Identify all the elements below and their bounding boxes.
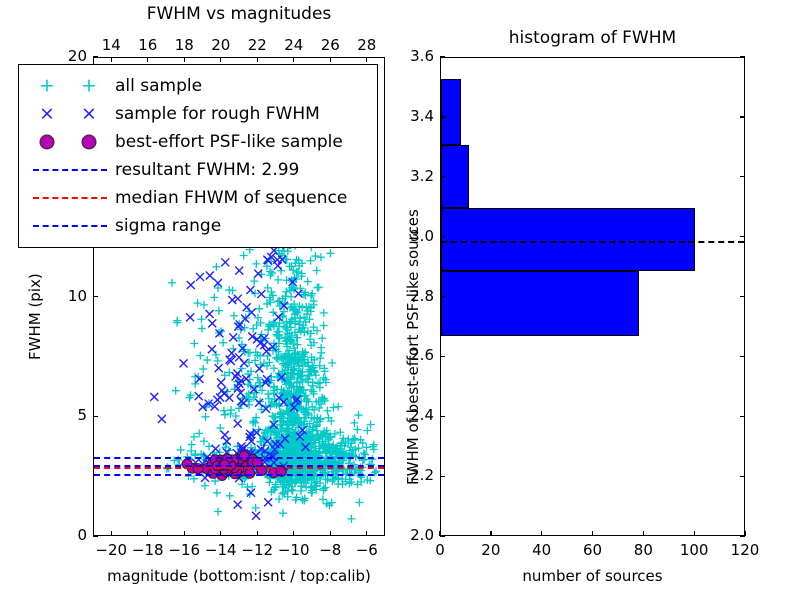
scatter-top-xticklabel: 14 bbox=[92, 36, 130, 54]
legend-cross-marker: × bbox=[81, 105, 97, 124]
scatter-yticklabel: 5 bbox=[47, 406, 87, 424]
legend-entry: sigma range bbox=[27, 212, 367, 240]
histogram-ytick bbox=[440, 296, 445, 297]
histogram-median-line bbox=[441, 241, 744, 243]
histogram-yticklabel: 3.6 bbox=[388, 47, 434, 65]
histogram-ytick-right bbox=[740, 56, 745, 57]
histogram-ytick-right bbox=[740, 535, 745, 536]
histogram-bar bbox=[441, 145, 469, 208]
histogram-xtick bbox=[490, 531, 491, 536]
scatter-xticklabel: −8 bbox=[311, 541, 349, 559]
scatter-xtick bbox=[366, 531, 367, 536]
scatter-top-xtick bbox=[366, 57, 367, 62]
histogram-yticklabel: 2.4 bbox=[388, 406, 434, 424]
scatter-top-xtick bbox=[293, 57, 294, 62]
scatter-top-xticklabel: 24 bbox=[275, 36, 313, 54]
histogram-xtick bbox=[592, 531, 593, 536]
figure-canvas: FWHM vs magnitudes magnitude (bottom:isn… bbox=[0, 0, 800, 600]
scatter-xtick bbox=[330, 531, 331, 536]
scatter-xticklabel: −16 bbox=[165, 541, 203, 559]
legend-filled-circle-marker bbox=[40, 135, 55, 150]
histogram-ytick bbox=[440, 416, 445, 417]
histogram-axes bbox=[440, 57, 745, 536]
legend-entry: median FHWM of sequence bbox=[27, 184, 367, 212]
histogram-plot-area bbox=[441, 58, 744, 535]
histogram-ytick bbox=[440, 116, 445, 117]
legend-entry: resultant FWHM: 2.99 bbox=[27, 156, 367, 184]
histogram-xticklabel: 80 bbox=[623, 541, 663, 559]
histogram-ytick-right bbox=[740, 176, 745, 177]
histogram-ytick bbox=[440, 56, 445, 57]
legend-box: ++all sample××sample for rough FWHMbest-… bbox=[18, 64, 378, 248]
legend-entry: ××sample for rough FWHM bbox=[27, 100, 367, 128]
histogram-yticklabel: 2.6 bbox=[388, 346, 434, 364]
histogram-yticklabel: 3.2 bbox=[388, 167, 434, 185]
legend-cross-marker: × bbox=[39, 105, 55, 124]
legend-plus-marker: + bbox=[81, 77, 97, 96]
legend-dashed-line bbox=[33, 169, 107, 171]
scatter-hline-sigma-upper bbox=[94, 457, 384, 459]
scatter-hline-median-FHWM-of-sequence bbox=[94, 467, 384, 469]
scatter-top-xtick bbox=[184, 57, 185, 62]
legend-label: best-effort PSF-like sample bbox=[115, 132, 343, 152]
histogram-ytick bbox=[440, 236, 445, 237]
scatter-yticklabel: 10 bbox=[47, 287, 87, 305]
histogram-yticklabel: 3.4 bbox=[388, 107, 434, 125]
scatter-xticklabel: −18 bbox=[129, 541, 167, 559]
legend-label: sigma range bbox=[115, 216, 221, 236]
histogram-ytick bbox=[440, 356, 445, 357]
histogram-ytick bbox=[440, 476, 445, 477]
scatter-top-xticklabel: 28 bbox=[348, 36, 386, 54]
histogram-yticklabel: 2.2 bbox=[388, 466, 434, 484]
legend-key bbox=[27, 187, 115, 209]
scatter-xtick bbox=[147, 531, 148, 536]
scatter-xlabel: magnitude (bottom:isnt / top:calib) bbox=[43, 567, 435, 585]
legend-key bbox=[27, 215, 115, 237]
histogram-xticklabel: 20 bbox=[471, 541, 511, 559]
legend-label: resultant FWHM: 2.99 bbox=[115, 160, 299, 180]
scatter-ytick bbox=[93, 296, 98, 297]
scatter-xticklabel: −6 bbox=[348, 541, 386, 559]
histogram-xtick bbox=[643, 531, 644, 536]
scatter-top-xtick bbox=[257, 57, 258, 62]
scatter-yticklabel: 20 bbox=[47, 47, 87, 65]
scatter-title: FWHM vs magnitudes bbox=[93, 4, 385, 24]
scatter-ytick bbox=[93, 416, 98, 417]
histogram-ytick-right bbox=[740, 116, 745, 117]
legend-label: sample for rough FWHM bbox=[115, 104, 320, 124]
legend-key: ×× bbox=[27, 103, 115, 125]
histogram-ytick-right bbox=[740, 476, 745, 477]
histogram-ytick-right bbox=[740, 356, 745, 357]
histogram-ytick bbox=[440, 535, 445, 536]
scatter-xtick bbox=[111, 531, 112, 536]
scatter-top-xticklabel: 16 bbox=[129, 36, 167, 54]
scatter-ytick bbox=[93, 56, 98, 57]
histogram-xticklabel: 100 bbox=[674, 541, 714, 559]
legend-filled-circle-marker bbox=[82, 135, 97, 150]
legend-label: all sample bbox=[115, 76, 202, 96]
scatter-xtick bbox=[257, 531, 258, 536]
histogram-bar bbox=[441, 79, 461, 145]
scatter-top-xtick bbox=[111, 57, 112, 62]
histogram-xticklabel: 60 bbox=[573, 541, 613, 559]
histogram-xtick bbox=[541, 531, 542, 536]
scatter-xticklabel: −20 bbox=[92, 541, 130, 559]
scatter-top-xtick bbox=[220, 57, 221, 62]
histogram-xticklabel: 120 bbox=[725, 541, 765, 559]
scatter-top-xticklabel: 20 bbox=[202, 36, 240, 54]
histogram-xlabel: number of sources bbox=[440, 567, 745, 585]
scatter-top-xticklabel: 18 bbox=[165, 36, 203, 54]
scatter-top-xtick bbox=[330, 57, 331, 62]
scatter-xtick bbox=[220, 531, 221, 536]
scatter-top-xticklabel: 26 bbox=[311, 36, 349, 54]
histogram-yticklabel: 3.0 bbox=[388, 227, 434, 245]
histogram-title: histogram of FWHM bbox=[440, 28, 745, 48]
scatter-top-xticklabel: 22 bbox=[238, 36, 276, 54]
histogram-bar bbox=[441, 271, 639, 337]
legend-plus-marker: + bbox=[39, 77, 55, 96]
histogram-ytick bbox=[440, 176, 445, 177]
scatter-xticklabel: −14 bbox=[202, 541, 240, 559]
legend-key: ++ bbox=[27, 75, 115, 97]
legend-entry: ++all sample bbox=[27, 72, 367, 100]
scatter-yticklabel: 0 bbox=[47, 526, 87, 544]
legend-key bbox=[27, 131, 115, 153]
legend-key bbox=[27, 159, 115, 181]
histogram-xticklabel: 40 bbox=[522, 541, 562, 559]
legend-dashdot-line bbox=[33, 225, 107, 227]
legend-entry: best-effort PSF-like sample bbox=[27, 128, 367, 156]
scatter-xticklabel: −10 bbox=[275, 541, 313, 559]
scatter-xtick bbox=[184, 531, 185, 536]
histogram-yticklabel: 2.8 bbox=[388, 287, 434, 305]
histogram-ytick-right bbox=[740, 416, 745, 417]
legend-label: median FHWM of sequence bbox=[115, 188, 347, 208]
scatter-ytick bbox=[93, 535, 98, 536]
histogram-xtick bbox=[694, 531, 695, 536]
histogram-yticklabel: 2.0 bbox=[388, 526, 434, 544]
histogram-ytick-right bbox=[740, 296, 745, 297]
scatter-hline-sigma-lower bbox=[94, 474, 384, 476]
histogram-ytick-right bbox=[740, 236, 745, 237]
scatter-top-xtick bbox=[147, 57, 148, 62]
histogram-bar bbox=[441, 208, 695, 271]
scatter-ylabel: FWHM (pix) bbox=[26, 273, 44, 360]
legend-dashed-line bbox=[33, 197, 107, 199]
scatter-xticklabel: −12 bbox=[238, 541, 276, 559]
scatter-xtick bbox=[293, 531, 294, 536]
